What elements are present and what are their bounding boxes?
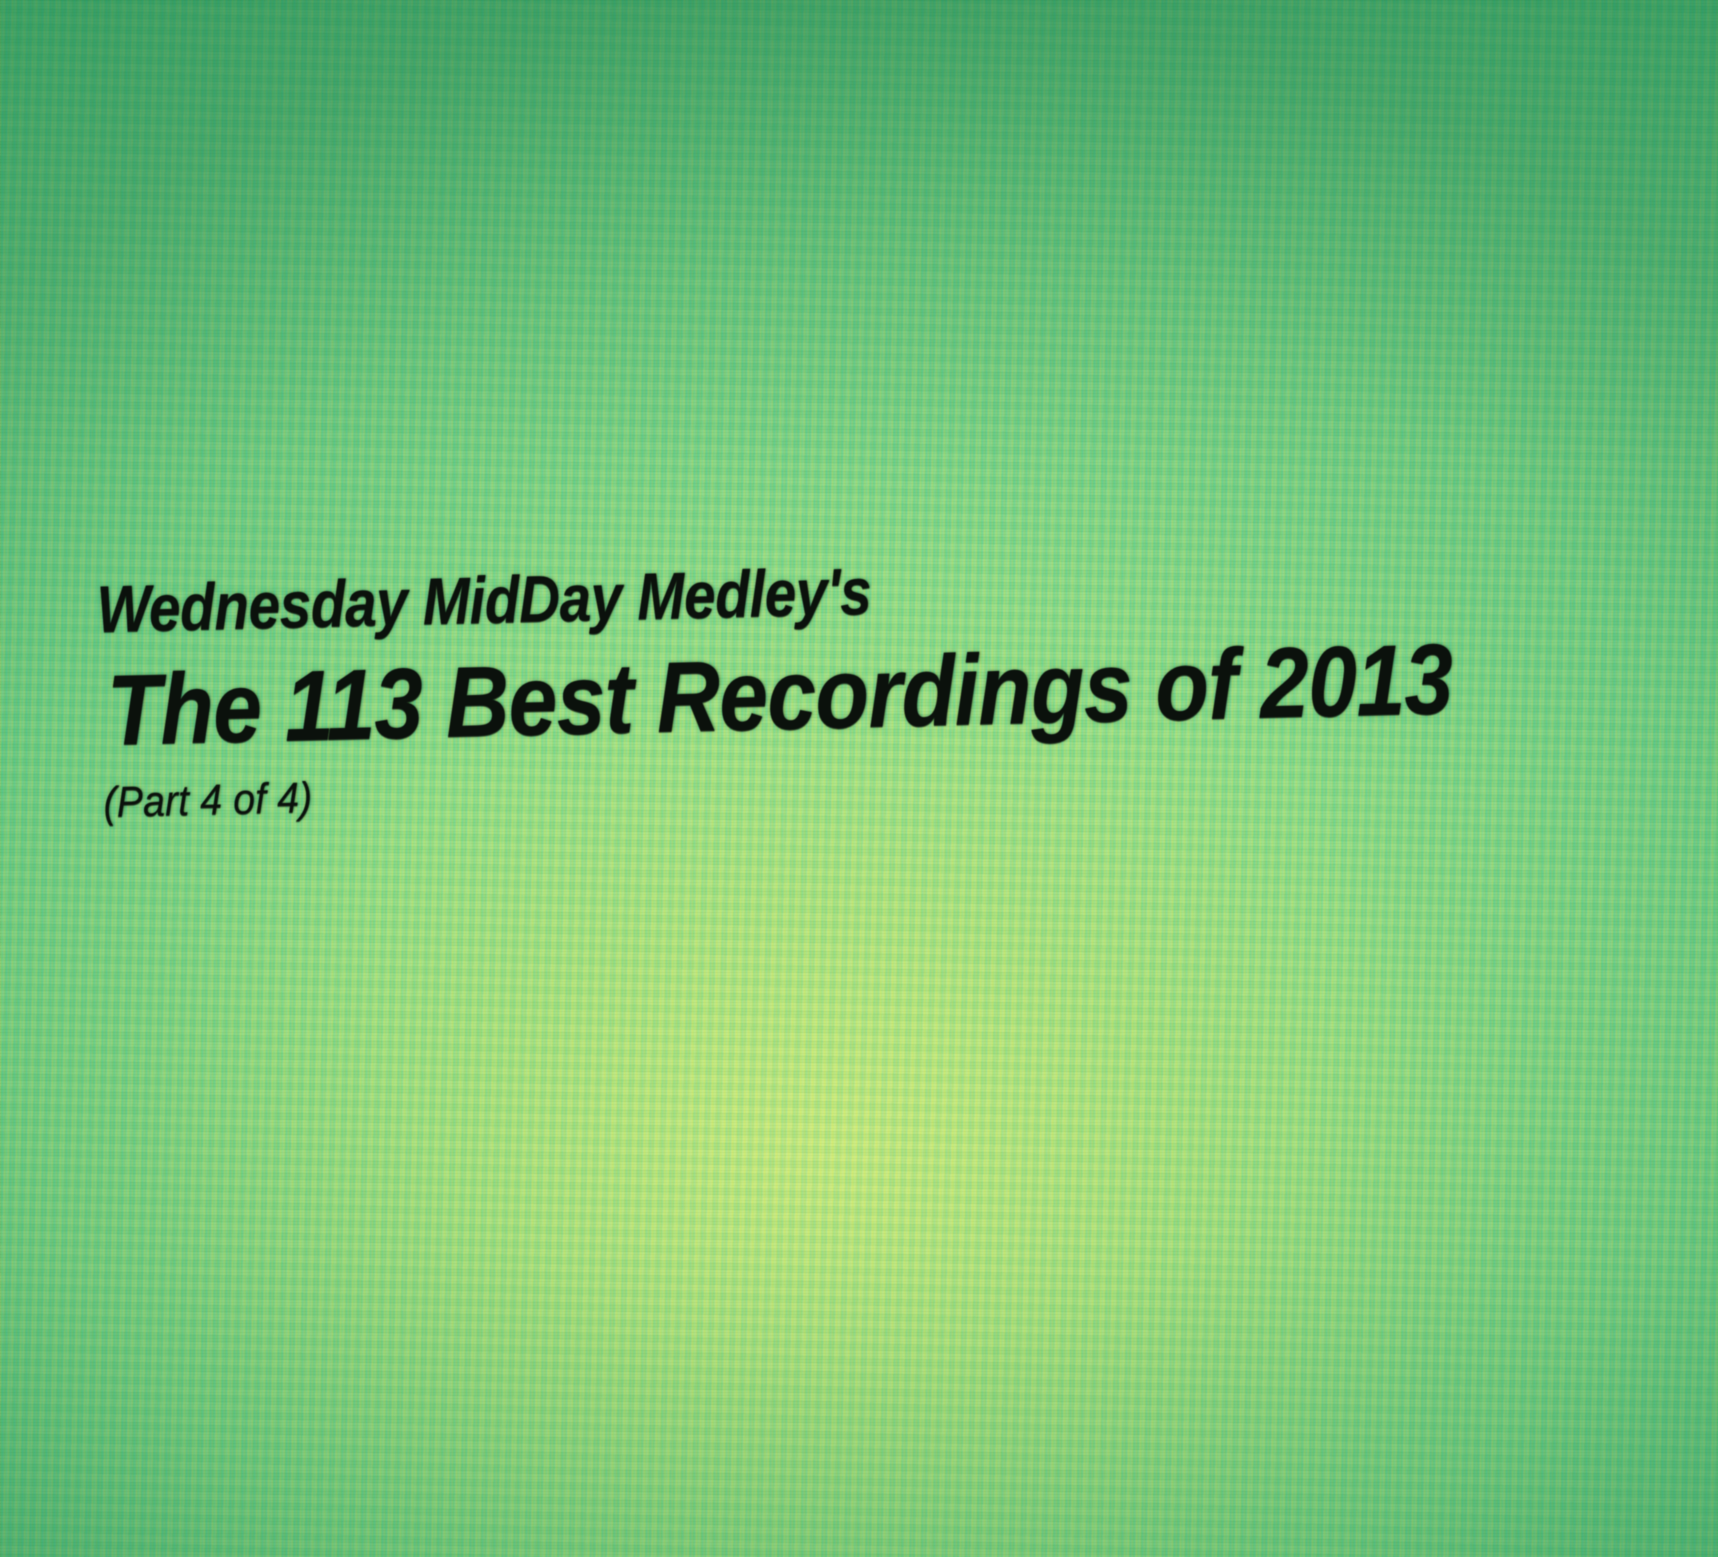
title-card: Wednesday MidDay Medley's The 113 Best R… — [96, 539, 1681, 825]
page-title: The 113 Best Recordings of 2013 — [106, 625, 1491, 764]
screen-photo: Wednesday MidDay Medley's The 113 Best R… — [0, 0, 1718, 1557]
